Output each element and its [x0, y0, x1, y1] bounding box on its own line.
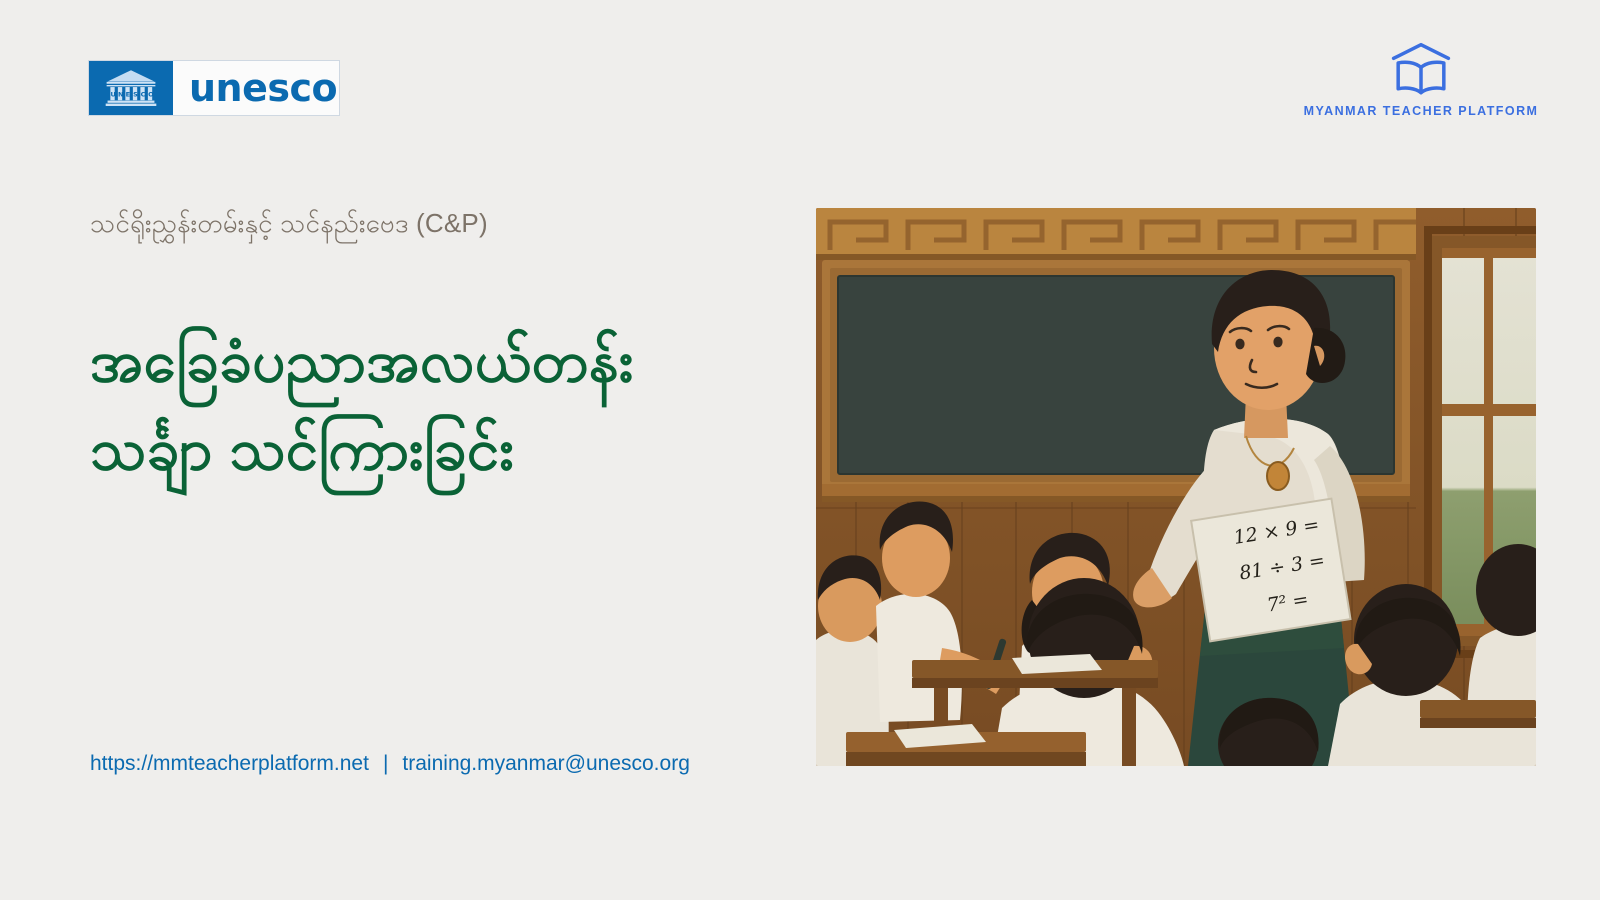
svg-text:U: U: [110, 90, 115, 98]
open-book-under-roof-icon: [1386, 40, 1456, 98]
email-link[interactable]: training.myanmar@unesco.org: [402, 752, 689, 776]
platform-caption: MYANMAR TEACHER PLATFORM: [1304, 104, 1539, 118]
page-title: အခြေခံပညာအလယ်တန်း သင်္ချာ သင်ကြားခြင်း: [90, 318, 790, 494]
classroom-illustration: 12 × 9 = 81 ÷ 3 = 7² =: [816, 208, 1536, 766]
page-title-line-1: အခြေခံပညာအလယ်တန်း: [90, 318, 790, 406]
website-link[interactable]: https://mmteacherplatform.net: [90, 752, 369, 776]
svg-text:S: S: [133, 90, 138, 98]
poster-canvas: U N E S C O unesco: [0, 0, 1600, 900]
footer-separator: |: [383, 752, 388, 776]
unesco-temple-icon: U N E S C O: [89, 61, 173, 115]
svg-text:N: N: [118, 90, 123, 98]
course-category-label: သင်ရိုးညွှန်းတမ်းနှင့် သင်နည်းဗေဒ (C&P): [90, 206, 488, 241]
svg-text:O: O: [148, 90, 154, 98]
svg-text:E: E: [126, 90, 130, 98]
unesco-wordmark: unesco: [173, 61, 339, 115]
contact-footer: https://mmteacherplatform.net | training…: [90, 752, 690, 776]
page-title-line-2: သင်္ချာ သင်ကြားခြင်း: [90, 406, 790, 494]
myanmar-teacher-platform-logo[interactable]: MYANMAR TEACHER PLATFORM: [1306, 40, 1536, 118]
unesco-logo[interactable]: U N E S C O unesco: [88, 60, 340, 116]
svg-text:C: C: [141, 90, 146, 98]
